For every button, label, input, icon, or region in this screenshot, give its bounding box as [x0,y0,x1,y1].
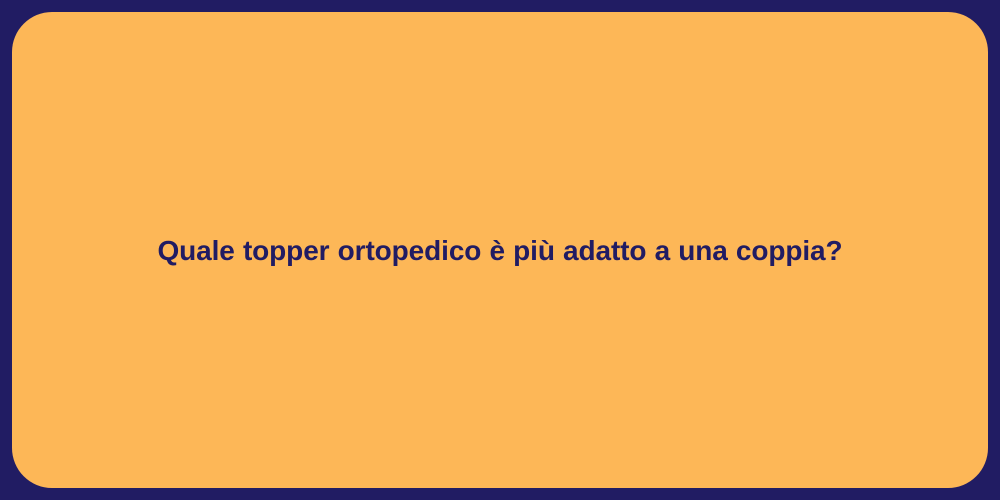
banner-root: Quale topper ortopedico è più adatto a u… [0,0,1000,500]
banner-panel: Quale topper ortopedico è più adatto a u… [12,12,988,488]
banner-headline: Quale topper ortopedico è più adatto a u… [12,233,988,268]
